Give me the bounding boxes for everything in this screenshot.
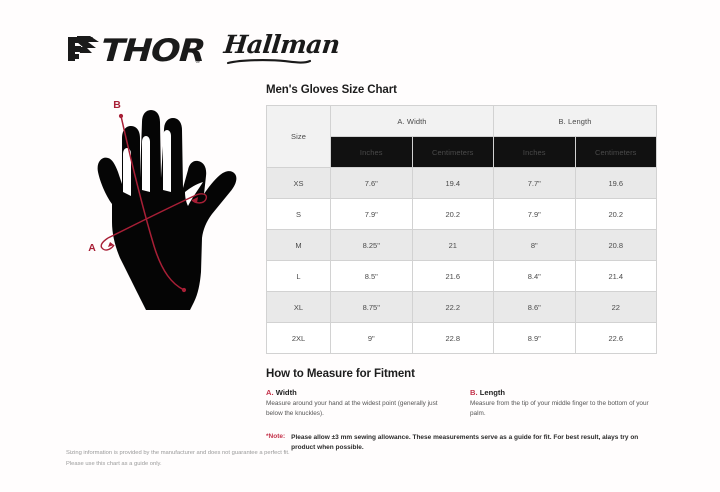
- cell-size: M: [267, 230, 331, 261]
- column-header-size: Size: [267, 106, 331, 168]
- table-row: L 8.5" 21.6 8.4" 21.4: [267, 261, 657, 292]
- thor-hammer-mark-icon: [66, 34, 100, 69]
- how-to-measure-columns: A. Width Measure around your hand at the…: [266, 388, 656, 420]
- cell-length-centimeters: 19.6: [575, 168, 657, 199]
- measure-item-body: Measure around your hand at the widest p…: [266, 399, 452, 420]
- cell-length-inches: 8.9": [494, 323, 576, 354]
- how-to-measure-item-width: A. Width Measure around your hand at the…: [266, 388, 452, 420]
- measure-item-name: Width: [276, 388, 297, 397]
- how-to-measure-title: How to Measure for Fitment: [266, 368, 656, 380]
- cell-width-centimeters: 21: [412, 230, 494, 261]
- size-chart-table: Size A. Width B. Length Inches Centimete…: [266, 105, 657, 354]
- column-group-header-length: B. Length: [494, 106, 657, 137]
- cell-width-centimeters: 22.8: [412, 323, 494, 354]
- disclaimer-line-2: Please use this chart as a guide only.: [66, 459, 366, 470]
- column-group-header-width: A. Width: [331, 106, 494, 137]
- table-row: 2XL 9" 22.8 8.9" 22.6: [267, 323, 657, 354]
- table-head: Size A. Width B. Length Inches Centimete…: [267, 106, 657, 168]
- measure-item-label: A.: [266, 388, 274, 397]
- measure-item-label: B.: [470, 388, 478, 397]
- column-header-width-centimeters: Centimeters: [412, 137, 494, 168]
- column-header-length-inches: Inches: [494, 137, 576, 168]
- cell-length-inches: 7.9": [494, 199, 576, 230]
- cell-length-inches: 8.6": [494, 292, 576, 323]
- cell-length-centimeters: 21.4: [575, 261, 657, 292]
- cell-length-inches: 8": [494, 230, 576, 261]
- thor-logo: THOR ®: [66, 34, 200, 69]
- measure-item-heading: B. Length: [470, 388, 656, 397]
- measure-item-heading: A. Width: [266, 388, 452, 397]
- hand-measurement-diagram: B A: [72, 96, 254, 314]
- size-chart-page: THOR ® Hallman: [0, 0, 720, 492]
- cell-size: XS: [267, 168, 331, 199]
- hallman-logo: Hallman: [224, 32, 339, 71]
- cell-length-centimeters: 22: [575, 292, 657, 323]
- cell-width-inches: 8.25": [331, 230, 413, 261]
- cell-width-centimeters: 21.6: [412, 261, 494, 292]
- hallman-wordmark: Hallman: [223, 32, 341, 57]
- cell-width-inches: 8.5": [331, 261, 413, 292]
- cell-size: S: [267, 199, 331, 230]
- cell-width-inches: 7.6": [331, 168, 413, 199]
- cell-width-centimeters: 19.4: [412, 168, 494, 199]
- table-row: S 7.9" 20.2 7.9" 20.2: [267, 199, 657, 230]
- length-measure-endpoint-bottom: [182, 288, 186, 292]
- length-label-b: B: [113, 99, 121, 111]
- measure-item-name: Length: [480, 388, 505, 397]
- table-body: XS 7.6" 19.4 7.7" 19.6 S 7.9" 20.2 7.9" …: [267, 168, 657, 354]
- measure-item-body: Measure from the tip of your middle fing…: [470, 399, 656, 420]
- table-row: XL 8.75" 22.2 8.6" 22: [267, 292, 657, 323]
- table-row: M 8.25" 21 8" 20.8: [267, 230, 657, 261]
- thor-wordmark: THOR: [100, 36, 205, 67]
- table-group-header-row: Size A. Width B. Length: [267, 106, 657, 137]
- how-to-measure-item-length: B. Length Measure from the tip of your m…: [470, 388, 656, 420]
- length-measure-endpoint-top: [119, 114, 123, 118]
- disclaimer-text: Sizing information is provided by the ma…: [66, 448, 366, 469]
- table-row: XS 7.6" 19.4 7.7" 19.6: [267, 168, 657, 199]
- cell-width-inches: 9": [331, 323, 413, 354]
- cell-length-centimeters: 20.8: [575, 230, 657, 261]
- cell-width-inches: 8.75": [331, 292, 413, 323]
- cell-width-centimeters: 20.2: [412, 199, 494, 230]
- chart-column: Men's Gloves Size Chart Size A. Width B.…: [266, 84, 656, 454]
- column-header-width-inches: Inches: [331, 137, 413, 168]
- column-header-length-centimeters: Centimeters: [575, 137, 657, 168]
- cell-width-inches: 7.9": [331, 199, 413, 230]
- cell-length-centimeters: 22.6: [575, 323, 657, 354]
- cell-size: 2XL: [267, 323, 331, 354]
- brand-logo-bar: THOR ® Hallman: [66, 32, 339, 71]
- cell-size: XL: [267, 292, 331, 323]
- page-title: Men's Gloves Size Chart: [266, 84, 656, 96]
- cell-length-inches: 8.4": [494, 261, 576, 292]
- disclaimer-line-1: Sizing information is provided by the ma…: [66, 448, 366, 459]
- cell-length-centimeters: 20.2: [575, 199, 657, 230]
- cell-size: L: [267, 261, 331, 292]
- how-to-measure-section: How to Measure for Fitment A. Width Meas…: [266, 368, 656, 454]
- cell-length-inches: 7.7": [494, 168, 576, 199]
- cell-width-centimeters: 22.2: [412, 292, 494, 323]
- width-label-a: A: [88, 242, 96, 254]
